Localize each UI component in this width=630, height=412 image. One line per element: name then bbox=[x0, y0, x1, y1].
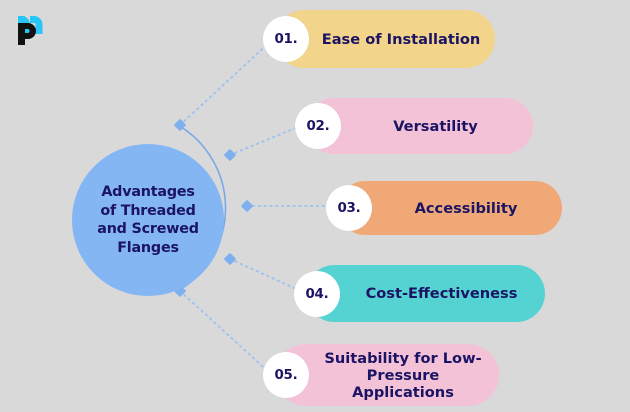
item-badge-3[interactable]: 03. bbox=[326, 185, 372, 231]
connector-line-4 bbox=[230, 259, 303, 292]
item-label-3: Accessibility bbox=[369, 200, 532, 217]
item-number-1: 01. bbox=[274, 32, 297, 47]
center-topic-circle: Advantages of Threaded and Screwed Flang… bbox=[72, 144, 224, 296]
item-badge-5[interactable]: 05. bbox=[263, 352, 309, 398]
item-label-4: Cost-Effectiveness bbox=[320, 285, 532, 302]
item-number-5: 05. bbox=[274, 368, 297, 383]
item-number-4: 04. bbox=[305, 287, 328, 302]
connector-line-5 bbox=[180, 291, 272, 375]
center-topic-title: Advantages of Threaded and Screwed Flang… bbox=[91, 183, 205, 257]
item-number-2: 02. bbox=[306, 119, 329, 134]
connector-node-3 bbox=[241, 200, 254, 213]
infographic-canvas: Advantages of Threaded and Screwed Flang… bbox=[0, 0, 630, 412]
connector-node-2 bbox=[224, 149, 237, 162]
item-label-2: Versatility bbox=[347, 118, 492, 135]
item-number-3: 03. bbox=[337, 201, 360, 216]
item-badge-2[interactable]: 02. bbox=[295, 103, 341, 149]
item-pill-4[interactable]: Cost-Effectiveness bbox=[306, 265, 545, 322]
connector-line-1 bbox=[180, 40, 272, 125]
connector-node-4 bbox=[224, 253, 237, 266]
connector-line-2 bbox=[230, 125, 303, 155]
item-badge-1[interactable]: 01. bbox=[263, 16, 309, 62]
item-badge-4[interactable]: 04. bbox=[294, 271, 340, 317]
